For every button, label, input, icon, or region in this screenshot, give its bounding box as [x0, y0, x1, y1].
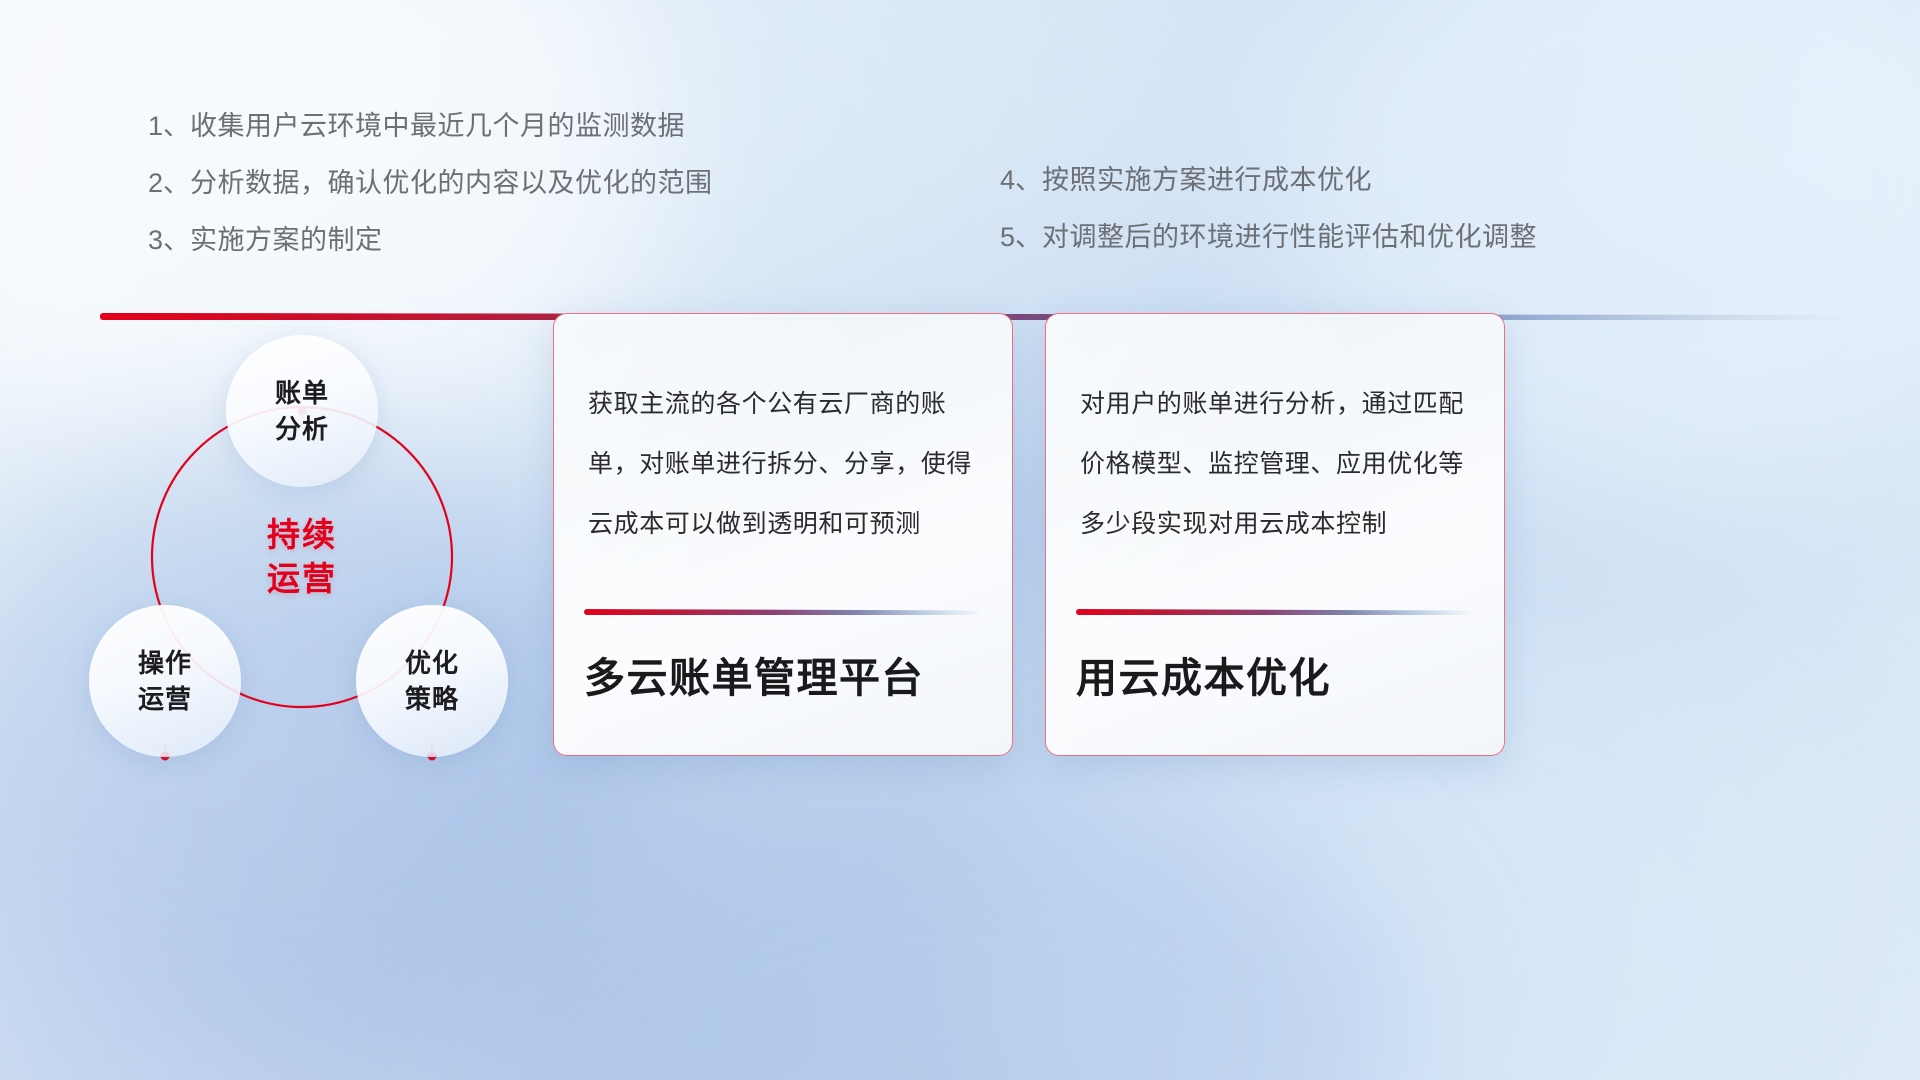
step-text: 分析数据，确认优化的内容以及优化的范围	[190, 168, 713, 198]
card-accent-rule	[584, 609, 982, 615]
step-text: 对调整后的环境进行性能评估和优化调整	[1042, 222, 1537, 252]
step-number: 2、	[148, 168, 190, 198]
card-body-text: 对用户的账单进行分析，通过匹配价格模型、监控管理、应用优化等多少段实现对用云成本…	[1080, 374, 1474, 554]
venn-center-label: 持续运营	[230, 485, 374, 629]
card-title: 多云账单管理平台	[584, 652, 984, 704]
step-text: 实施方案的制定	[190, 225, 383, 255]
info-card-multi-cloud-bill-platform[interactable]: 获取主流的各个公有云厂商的账单，对账单进行拆分、分享，使得云成本可以做到透明和可…	[553, 313, 1013, 756]
venn-bubble-bill-analysis[interactable]: 账单分析	[226, 335, 378, 487]
list-item: 5、对调整后的环境进行性能评估和优化调整	[1000, 209, 1537, 266]
venn-center-text: 持续运营	[267, 513, 337, 601]
venn-bubble-optimize-strategy[interactable]: 优化策略	[356, 605, 508, 757]
step-number: 4、	[1000, 165, 1042, 195]
venn-bubble-label: 账单分析	[275, 375, 329, 447]
step-number: 1、	[148, 111, 190, 141]
step-text: 收集用户云环境中最近几个月的监测数据	[190, 111, 685, 141]
list-item: 3、实施方案的制定	[148, 212, 713, 269]
card-title: 用云成本优化	[1076, 652, 1476, 704]
step-number: 3、	[148, 225, 190, 255]
venn-bubble-label: 优化策略	[405, 645, 459, 717]
info-card-cloud-cost-optimization[interactable]: 对用户的账单进行分析，通过匹配价格模型、监控管理、应用优化等多少段实现对用云成本…	[1045, 313, 1505, 756]
venn-bubble-label: 操作运营	[138, 645, 192, 717]
list-item: 1、收集用户云环境中最近几个月的监测数据	[148, 98, 713, 155]
card-accent-rule	[1076, 609, 1474, 615]
list-item: 4、按照实施方案进行成本优化	[1000, 152, 1537, 209]
continuous-operation-diagram: 账单分析 操作运营 优化策略 持续运营	[80, 350, 580, 850]
steps-left-column: 1、收集用户云环境中最近几个月的监测数据 2、分析数据，确认优化的内容以及优化的…	[148, 98, 713, 269]
step-text: 按照实施方案进行成本优化	[1042, 165, 1372, 195]
venn-bubble-operation-ops[interactable]: 操作运营	[89, 605, 241, 757]
card-body-text: 获取主流的各个公有云厂商的账单，对账单进行拆分、分享，使得云成本可以做到透明和可…	[588, 374, 982, 554]
list-item: 2、分析数据，确认优化的内容以及优化的范围	[148, 155, 713, 212]
process-steps-section: 1、收集用户云环境中最近几个月的监测数据 2、分析数据，确认优化的内容以及优化的…	[0, 0, 1920, 300]
step-number: 5、	[1000, 222, 1042, 252]
steps-right-column: 4、按照实施方案进行成本优化 5、对调整后的环境进行性能评估和优化调整	[1000, 152, 1537, 266]
